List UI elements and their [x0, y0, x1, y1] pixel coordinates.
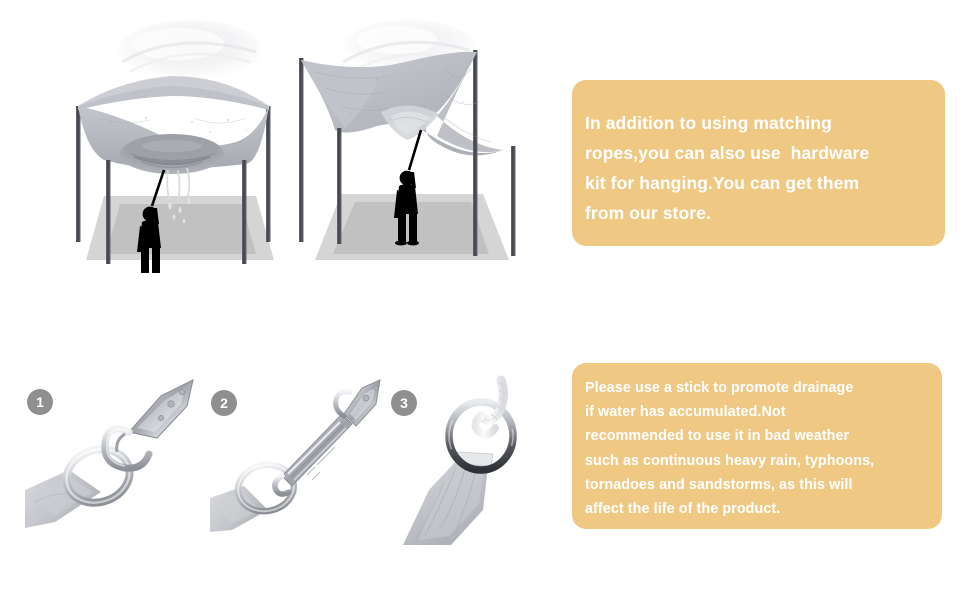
callout-bottom-line-4: such as continuous heavy rain, typhoons,: [585, 449, 928, 473]
sky-cloud: [118, 20, 262, 80]
callout-top-line-1: In addition to using matching: [585, 108, 923, 138]
turnbuckle-body: [275, 414, 352, 494]
pole-back-left: [76, 106, 81, 242]
pole-back-right: [266, 106, 271, 242]
callout-top-line-2: ropes,you can also use hardware: [585, 138, 923, 168]
callout-bottom-line-2: if water has accumulated.Not: [585, 400, 928, 424]
pole-front-left: [337, 128, 342, 244]
callout-bottom-line-5: tornadoes and sandstorms, as this will: [585, 473, 928, 497]
pole-back-left: [299, 58, 304, 242]
hardware-photo-turnbuckle: [210, 370, 390, 535]
illustration-sail-drained: [285, 18, 535, 273]
callout-top-line-4: from our store.: [585, 198, 923, 228]
hardware-photo-snap-hook: [25, 370, 210, 535]
callout-bottom-line-3: recommended to use it in bad weather: [585, 424, 928, 448]
callout-top-line-3: kit for hanging.You can get them: [585, 168, 923, 198]
callout-bottom-line-6: affect the life of the product.: [585, 497, 928, 521]
step-badge-1: 1: [27, 389, 53, 415]
callout-bottom-line-1: Please use a stick to promote drainage: [585, 376, 928, 400]
illustration-sail-water-accumulated: [60, 18, 300, 273]
pole-front-right: [242, 160, 247, 264]
step-badge-3: 3: [391, 390, 417, 416]
callout-drainage-warning: Please use a stick to promote drainage i…: [572, 363, 942, 529]
pole-front-left: [106, 160, 111, 264]
step-badge-2: 2: [211, 390, 237, 416]
callout-hardware-kit-note: In addition to using matching ropes,you …: [572, 80, 945, 246]
water-pocket: [120, 134, 224, 174]
pole-far-right: [511, 146, 516, 256]
pole-front-right: [473, 140, 478, 256]
